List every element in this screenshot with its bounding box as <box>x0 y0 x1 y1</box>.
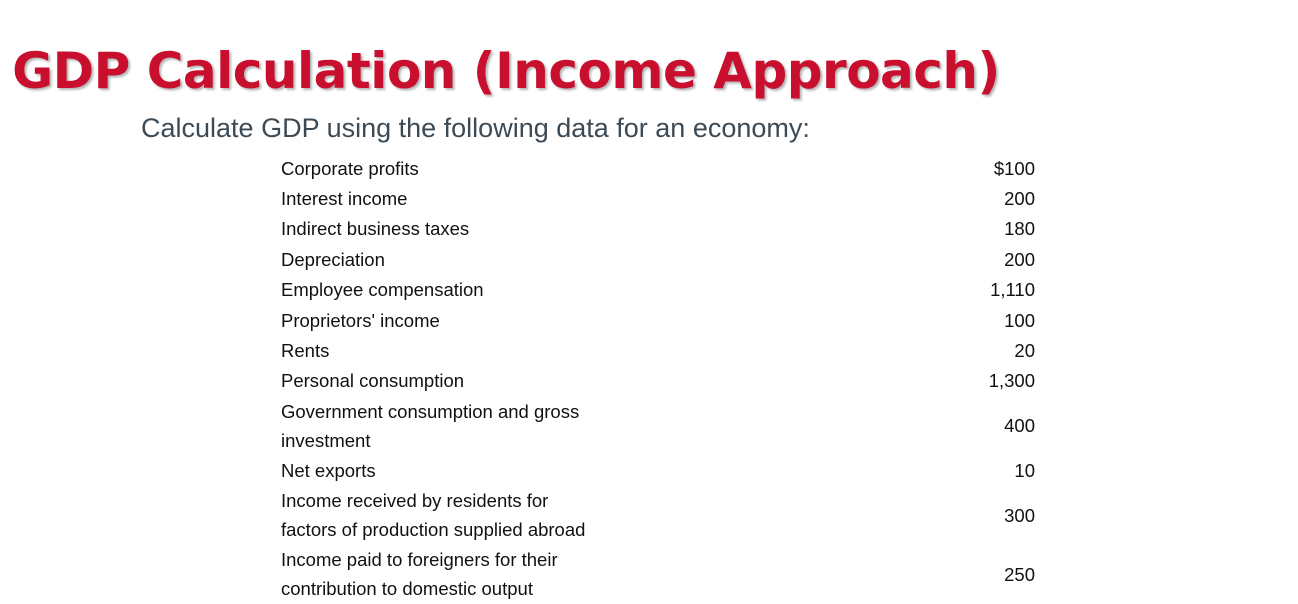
table-row-value: 180 <box>915 214 1035 244</box>
table-row-label: Interest income <box>281 183 915 213</box>
table-row-label: Indirect business taxes <box>281 214 915 244</box>
table-row-value: 100 <box>915 305 1035 335</box>
table-row: Income paid to foreigners for theircontr… <box>281 545 1035 604</box>
table-row: Government consumption and grossinvestme… <box>281 396 1035 455</box>
table-row-label-line1: Personal consumption <box>281 366 895 395</box>
table-row-value: 20 <box>915 335 1035 365</box>
table-row-value: 300 <box>915 486 1035 545</box>
table-row-label: Income paid to foreigners for theircontr… <box>281 545 915 604</box>
table-row: Proprietors' income100 <box>281 305 1035 335</box>
table-row-value: 200 <box>915 183 1035 213</box>
gdp-data-table: Corporate profits$100Interest income200I… <box>281 153 1035 604</box>
table-row: Personal consumption1,300 <box>281 366 1035 396</box>
gdp-data-table-body: Corporate profits$100Interest income200I… <box>281 153 1035 604</box>
table-row-label-line1: Depreciation <box>281 245 895 274</box>
table-row-label-line2: factors of production supplied abroad <box>281 515 895 544</box>
table-row-label: Proprietors' income <box>281 305 915 335</box>
slide-subtitle: Calculate GDP using the following data f… <box>141 110 810 146</box>
table-row-label-line1: Employee compensation <box>281 275 895 304</box>
table-row-label: Personal consumption <box>281 366 915 396</box>
table-row: Employee compensation1,110 <box>281 275 1035 305</box>
table-row-label: Corporate profits <box>281 153 915 183</box>
table-row-label-line1: Indirect business taxes <box>281 214 895 243</box>
table-row-value: 1,110 <box>915 275 1035 305</box>
table-row-label: Rents <box>281 335 915 365</box>
table-row-label: Net exports <box>281 455 915 485</box>
table-row: Depreciation200 <box>281 244 1035 274</box>
table-row: Income received by residents forfactors … <box>281 486 1035 545</box>
table-row: Corporate profits$100 <box>281 153 1035 183</box>
table-row-value: 10 <box>915 455 1035 485</box>
table-row-label-line2: investment <box>281 426 895 455</box>
table-row-label-line1: Proprietors' income <box>281 306 895 335</box>
table-row-label-line1: Government consumption and gross <box>281 397 895 426</box>
table-row-label-line1: Income received by residents for <box>281 486 895 515</box>
table-row: Net exports10 <box>281 455 1035 485</box>
table-row-value: 200 <box>915 244 1035 274</box>
table-row-label: Government consumption and grossinvestme… <box>281 396 915 455</box>
table-row-value: 250 <box>915 545 1035 604</box>
table-row-label-line2: contribution to domestic output <box>281 574 895 603</box>
table-row-value: 1,300 <box>915 366 1035 396</box>
table-row-label: Employee compensation <box>281 275 915 305</box>
slide-canvas: GDP Calculation (Income Approach) Calcul… <box>0 0 1298 600</box>
table-row: Rents20 <box>281 335 1035 365</box>
table-row-label-line1: Income paid to foreigners for their <box>281 545 895 574</box>
table-row-label-line1: Corporate profits <box>281 154 895 183</box>
table-row-label-line1: Net exports <box>281 456 895 485</box>
table-row: Interest income200 <box>281 183 1035 213</box>
table-row-value: 400 <box>915 396 1035 455</box>
table-row-label-line1: Rents <box>281 336 895 365</box>
table-row-label-line1: Interest income <box>281 184 895 213</box>
page-title: GDP Calculation (Income Approach) <box>0 42 1012 100</box>
table-row-label: Income received by residents forfactors … <box>281 486 915 545</box>
table-row-label: Depreciation <box>281 244 915 274</box>
table-row-value: $100 <box>915 153 1035 183</box>
table-row: Indirect business taxes180 <box>281 214 1035 244</box>
